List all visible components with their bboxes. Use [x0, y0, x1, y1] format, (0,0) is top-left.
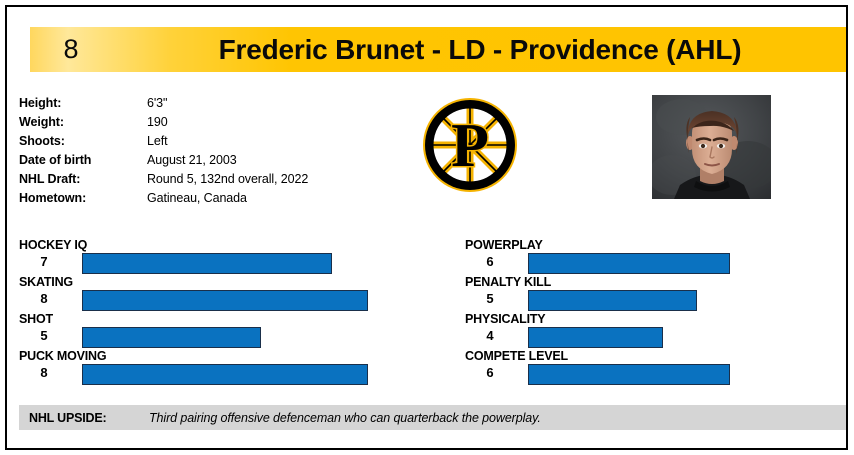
attribute-bar-fill: [82, 364, 368, 385]
card-header: 8 Frederic Brunet - LD - Providence (AHL…: [30, 27, 848, 72]
attribute-bar-track: [528, 290, 848, 311]
attribute-bar-row: 4: [465, 327, 848, 349]
attribute-bar-track: [82, 364, 439, 385]
attribute-hockey-iq: HOCKEY IQ 7: [19, 238, 439, 275]
player-profile-card: 8 Frederic Brunet - LD - Providence (AHL…: [5, 5, 848, 450]
attribute-value: 7: [19, 254, 69, 269]
attribute-bar-track: [528, 364, 848, 385]
attribute-shot: SHOT 5: [19, 312, 439, 349]
nhl-upside-label: NHL UPSIDE:: [29, 411, 149, 425]
attribute-label: PUCK MOVING: [19, 349, 439, 364]
attribute-bar-row: 7: [19, 253, 439, 275]
attribute-value: 8: [19, 365, 69, 380]
attribute-bar-row: 5: [19, 327, 439, 349]
team-logo: P: [420, 95, 520, 195]
bio-label-shoots: Shoots:: [19, 134, 147, 148]
providence-bruins-logo-icon: P: [420, 95, 520, 195]
attribute-bar-row: 8: [19, 364, 439, 386]
bio-table: Height: 6'3" Weight: 190 Shoots: Left Da…: [19, 93, 379, 207]
attribute-bar-fill: [82, 327, 261, 348]
attribute-physicality: PHYSICALITY 4: [465, 312, 848, 349]
bio-value-date-of-birth: August 21, 2003: [147, 153, 237, 167]
attribute-penalty-kill: PENALTY KILL 5: [465, 275, 848, 312]
attributes-column-right: POWERPLAY 6 PENALTY KILL 5 PHYSICALITY 4: [465, 238, 848, 386]
player-headshot: [652, 95, 771, 199]
bio-row-hometown: Hometown: Gatineau, Canada: [19, 188, 379, 207]
attribute-label: POWERPLAY: [465, 238, 848, 253]
nhl-upside-band: NHL UPSIDE: Third pairing offensive defe…: [19, 405, 847, 430]
bio-value-weight: 190: [147, 115, 168, 129]
bio-row-date-of-birth: Date of birth August 21, 2003: [19, 150, 379, 169]
attribute-label: SHOT: [19, 312, 439, 327]
attribute-bar-row: 6: [465, 253, 848, 275]
bio-row-shoots: Shoots: Left: [19, 131, 379, 150]
jersey-number: 8: [30, 27, 112, 72]
page-title: Frederic Brunet - LD - Providence (AHL): [112, 27, 848, 72]
attribute-value: 6: [465, 254, 515, 269]
bio-row-height: Height: 6'3": [19, 93, 379, 112]
attribute-skating: SKATING 8: [19, 275, 439, 312]
attribute-label: HOCKEY IQ: [19, 238, 439, 253]
bio-value-hometown: Gatineau, Canada: [147, 191, 247, 205]
attributes-column-left: HOCKEY IQ 7 SKATING 8 SHOT 5: [19, 238, 439, 386]
bio-value-shoots: Left: [147, 134, 167, 148]
attribute-label: PHYSICALITY: [465, 312, 848, 327]
attribute-powerplay: POWERPLAY 6: [465, 238, 848, 275]
bio-row-nhl-draft: NHL Draft: Round 5, 132nd overall, 2022: [19, 169, 379, 188]
bio-label-weight: Weight:: [19, 115, 147, 129]
attribute-bar-fill: [528, 253, 730, 274]
attribute-label: SKATING: [19, 275, 439, 290]
bio-label-hometown: Hometown:: [19, 191, 147, 205]
attribute-value: 4: [465, 328, 515, 343]
nhl-upside-text: Third pairing offensive defenceman who c…: [149, 411, 541, 425]
attribute-bar-track: [528, 327, 848, 348]
attribute-puck-moving: PUCK MOVING 8: [19, 349, 439, 386]
bio-label-date-of-birth: Date of birth: [19, 153, 147, 167]
attribute-bar-track: [82, 327, 439, 348]
bio-value-height: 6'3": [147, 96, 167, 110]
attribute-bar-track: [528, 253, 848, 274]
attribute-label: PENALTY KILL: [465, 275, 848, 290]
attribute-bar-track: [82, 290, 439, 311]
attribute-bar-row: 5: [465, 290, 848, 312]
attribute-compete-level: COMPETE LEVEL 6: [465, 349, 848, 386]
attribute-bar-row: 8: [19, 290, 439, 312]
player-headshot-image: [652, 95, 771, 199]
attribute-bar-fill: [528, 327, 663, 348]
attribute-bar-track: [82, 253, 439, 274]
svg-text:P: P: [451, 112, 489, 180]
attribute-value: 5: [465, 291, 515, 306]
bio-label-nhl-draft: NHL Draft:: [19, 172, 147, 186]
attribute-value: 5: [19, 328, 69, 343]
bio-value-nhl-draft: Round 5, 132nd overall, 2022: [147, 172, 308, 186]
bio-label-height: Height:: [19, 96, 147, 110]
attribute-value: 8: [19, 291, 69, 306]
attribute-value: 6: [465, 365, 515, 380]
attribute-bar-fill: [528, 364, 730, 385]
attribute-bar-fill: [82, 290, 368, 311]
attribute-bar-fill: [82, 253, 332, 274]
attribute-bar-fill: [528, 290, 697, 311]
attribute-label: COMPETE LEVEL: [465, 349, 848, 364]
attribute-bar-row: 6: [465, 364, 848, 386]
bio-row-weight: Weight: 190: [19, 112, 379, 131]
